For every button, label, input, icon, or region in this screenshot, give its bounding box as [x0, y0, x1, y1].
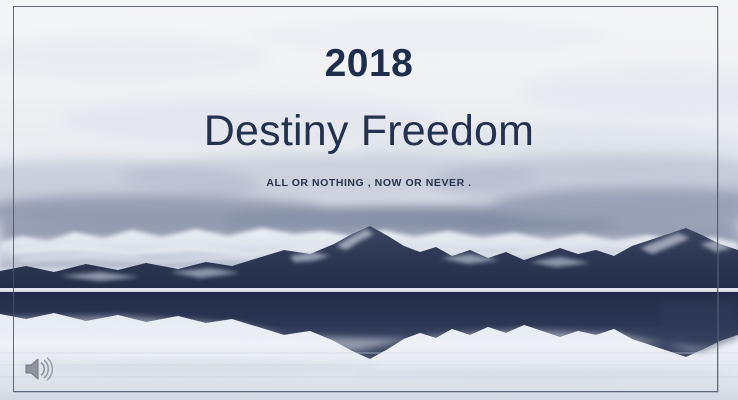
- speaker-icon[interactable]: [22, 352, 56, 386]
- year-heading: 2018: [0, 44, 738, 83]
- main-title: Destiny Freedom: [0, 108, 738, 155]
- subtitle-tagline: ALL OR NOTHING , NOW OR NEVER .: [0, 178, 738, 189]
- title-slide: 2018 Destiny Freedom ALL OR NOTHING , NO…: [0, 0, 738, 400]
